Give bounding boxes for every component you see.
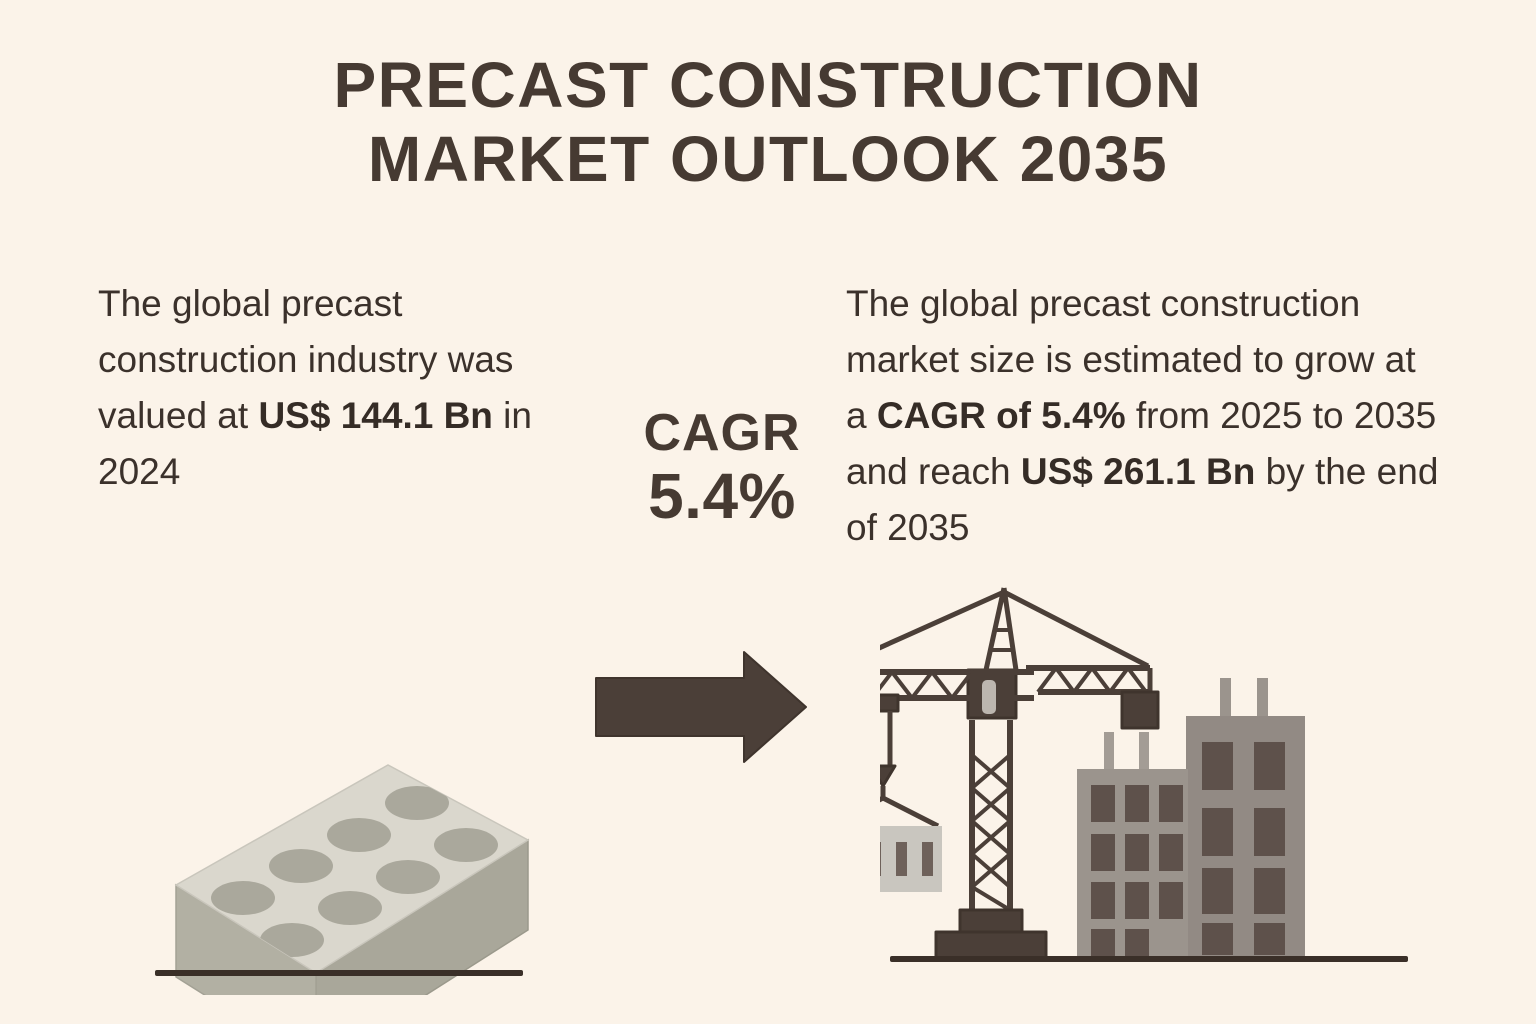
front-building-window: [1125, 785, 1149, 822]
container-slot: [922, 842, 933, 876]
left-ground-line: [155, 970, 523, 976]
back-building-window: [1254, 808, 1285, 856]
crane-mast: [972, 720, 1010, 910]
crane-base-upper: [960, 910, 1022, 932]
brick-hole: [376, 860, 440, 894]
crane-counter-jib: [1004, 592, 1150, 692]
brick-hole: [318, 891, 382, 925]
page-title: PRECAST CONSTRUCTION MARKET OUTLOOK 2035: [0, 48, 1536, 196]
suspended-container: [880, 826, 942, 892]
front-building-window: [1159, 882, 1183, 919]
infographic-canvas: PRECAST CONSTRUCTION MARKET OUTLOOK 2035…: [0, 0, 1536, 1024]
front-building-window: [1091, 882, 1115, 919]
front-building-window: [1125, 929, 1149, 957]
front-building: [1077, 732, 1188, 959]
right-emphasis-cagr: CAGR of 5.4%: [877, 395, 1126, 436]
back-building-window: [1202, 808, 1233, 856]
front-building-window: [1125, 834, 1149, 871]
right-ground-line: [890, 956, 1408, 962]
left-value-2024: US$ 144.1 Bn: [258, 395, 492, 436]
front-building-window: [1091, 785, 1115, 822]
left-statistic-text: The global precast construction industry…: [98, 276, 568, 500]
cagr-value: 5.4%: [612, 462, 832, 530]
growth-arrow: [592, 648, 810, 771]
crane-hook-block: [880, 766, 895, 786]
crane-base-lower: [936, 932, 1046, 958]
front-building-window: [1091, 834, 1115, 871]
brick-hole: [269, 849, 333, 883]
precast-brick-illustration: [140, 655, 560, 1000]
back-building-window: [1202, 923, 1233, 955]
brick-svg: [140, 655, 560, 995]
back-building: [1186, 678, 1305, 959]
arrow-right-shape: [596, 652, 806, 762]
right-forecast-text: The global precast construction market s…: [846, 276, 1446, 556]
brick-hole: [434, 828, 498, 862]
arrow-right-icon: [592, 648, 810, 766]
container-slot: [896, 842, 907, 876]
title-line-2: MARKET OUTLOOK 2035: [0, 122, 1536, 196]
front-building-window: [1159, 834, 1183, 871]
brick-hole: [211, 881, 275, 915]
cagr-badge: CAGR 5.4%: [612, 404, 832, 530]
back-building-window: [1202, 868, 1233, 914]
right-value-2035: US$ 261.1 Bn: [1021, 451, 1255, 492]
front-building-window: [1125, 882, 1149, 919]
brick-hole: [327, 818, 391, 852]
crane-trolley: [880, 695, 898, 711]
crane-base: [936, 910, 1046, 958]
title-line-1: PRECAST CONSTRUCTION: [0, 48, 1536, 122]
brick-hole: [385, 786, 449, 820]
back-building-window: [1254, 742, 1285, 790]
back-building-window: [1254, 923, 1285, 955]
container-slot: [880, 842, 881, 876]
crane-and-buildings-svg: [880, 580, 1420, 990]
cagr-label: CAGR: [612, 404, 832, 462]
back-building-window: [1254, 868, 1285, 914]
crane-hoist: [880, 695, 938, 826]
back-building-window: [1202, 742, 1233, 790]
front-building-window: [1091, 929, 1115, 957]
crane-counterweight: [1122, 692, 1158, 728]
front-building-window: [1159, 785, 1183, 822]
construction-scene-illustration: [880, 580, 1420, 995]
crane-cab-window: [982, 680, 996, 714]
